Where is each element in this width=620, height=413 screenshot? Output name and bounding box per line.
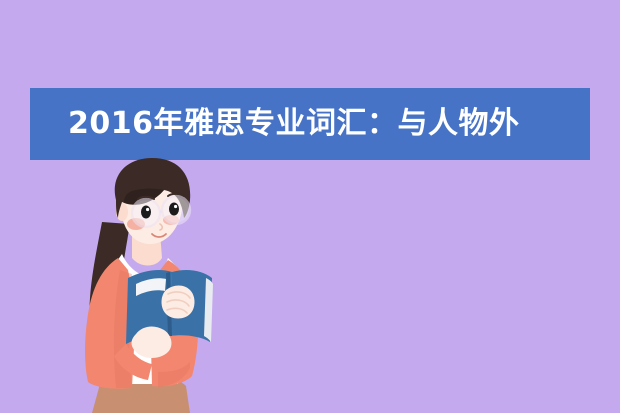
page-title: 2016年雅思专业词汇：与人物外 xyxy=(68,109,520,139)
illustration-woman-reading-book xyxy=(40,158,240,413)
title-bar: 2016年雅思专业词汇：与人物外 xyxy=(30,88,590,160)
woman-reading-icon xyxy=(40,158,240,413)
banner-container: 2016年雅思专业词汇：与人物外 xyxy=(0,0,620,413)
